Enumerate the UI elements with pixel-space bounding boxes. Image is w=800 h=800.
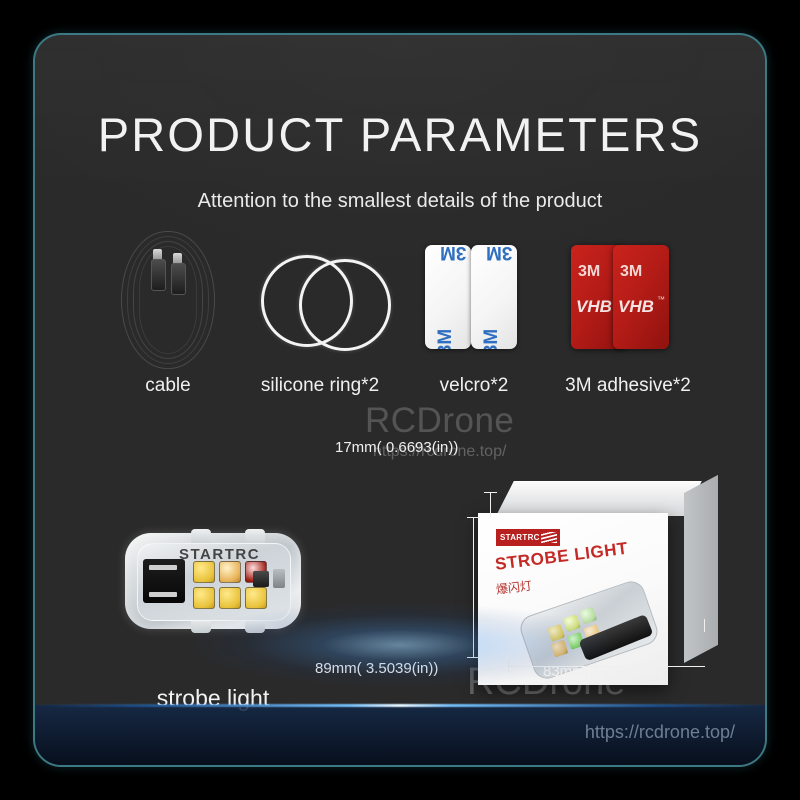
velcro-3m-mark-top-2: 3M	[486, 245, 512, 263]
box-side-face	[684, 475, 718, 663]
dim-height-cap-bottom	[467, 657, 480, 658]
device-caption: strobe light	[93, 685, 333, 712]
accessory-3m-adhesive: 3M VHB 3M VHB ™ 3M adhesive*2	[553, 225, 703, 425]
accessories-row: cable silicone ring*2 3M 3M 3M	[93, 225, 707, 425]
package-brand-text: STARTRC	[500, 533, 540, 542]
vhb-adhesive-icon: 3M VHB 3M VHB ™	[553, 225, 703, 373]
brand-stripes-icon	[541, 532, 557, 543]
package-title-cn: 爆闪灯	[495, 577, 533, 598]
dim-depth-line	[490, 493, 491, 517]
driver-chip	[253, 571, 269, 587]
accessory-silicone-ring: silicone ring*2	[245, 225, 395, 425]
dim-depth-label: 17mm( 0.6693(in))	[335, 439, 458, 456]
vhb-3m-mark-front: 3M	[620, 263, 642, 281]
vhb-3m-mark-back: 3M	[578, 263, 600, 281]
page-subtitle: Attention to the smallest details of the…	[35, 190, 765, 213]
dim-height-cap-top	[467, 517, 480, 518]
velcro-3m-mark-bottom-2: 3M	[481, 329, 503, 349]
velcro-3m-mark-bottom: 3M	[435, 329, 457, 349]
led-5	[219, 587, 241, 609]
vhb-mark-back: VHB	[576, 297, 612, 317]
led-2	[219, 561, 241, 583]
infographic-canvas: PRODUCT PARAMETERS Attention to the smal…	[0, 0, 800, 800]
side-component	[273, 569, 285, 588]
led-1	[193, 561, 215, 583]
footer-url: https://rcdrone.top/	[585, 722, 735, 743]
battery-contact-block	[143, 559, 185, 603]
silicone-ring-icon	[245, 225, 395, 373]
dim-width-label: 83mm(3.2677(in))	[543, 663, 662, 680]
dim-width-cap-right	[704, 619, 705, 632]
led-6	[245, 587, 267, 609]
bottom-floor-shade	[35, 705, 765, 765]
led-4	[193, 587, 215, 609]
strobe-light-device: STARTRC	[107, 529, 317, 633]
velcro-3m-mark-top: 3M	[440, 245, 466, 263]
usb-cable-icon	[93, 225, 243, 373]
package-brand-badge: STARTRC	[496, 529, 560, 546]
accessory-label-3m-adhesive: 3M adhesive*2	[531, 375, 725, 397]
page-title: PRODUCT PARAMETERS	[35, 107, 765, 162]
dim-width-cap-left	[508, 660, 509, 673]
dim-height-label: 89mm( 3.5039(in))	[315, 660, 438, 677]
dim-height-line	[473, 518, 474, 658]
content-panel: PRODUCT PARAMETERS Attention to the smal…	[35, 35, 765, 765]
vhb-mark-front: VHB	[618, 297, 654, 317]
accessory-cable: cable	[93, 225, 243, 425]
velcro-pad-icon: 3M 3M 3M 3M	[399, 225, 549, 373]
dim-depth-cap	[484, 492, 497, 493]
vhb-trademark-symbol: ™	[657, 295, 665, 304]
box-top-face	[496, 481, 702, 516]
bottom-glow-line	[35, 704, 765, 707]
accessory-velcro: 3M 3M 3M 3M velcro*2	[399, 225, 549, 425]
box-front-face: STARTRC STROBE LIGHT 爆闪灯	[478, 513, 668, 685]
